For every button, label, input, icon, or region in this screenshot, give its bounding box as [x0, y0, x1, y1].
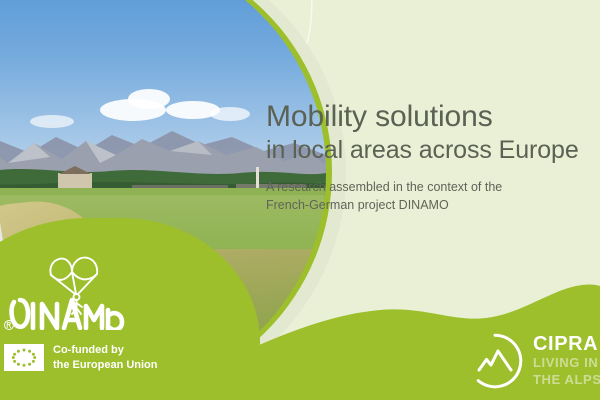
cipra-mountain-circle-icon — [466, 332, 524, 390]
dinamo-wordmark — [12, 300, 122, 330]
eu-funding-logo: Co-funded by the European Union — [4, 343, 158, 372]
cipra-name: CIPRA — [533, 334, 600, 354]
dinamo-registered-mark — [5, 321, 14, 330]
cipra-tagline-line1: LIVING IN — [533, 356, 600, 371]
photo-church-spire — [256, 167, 259, 189]
page-title-line2: in local areas across Europe — [266, 136, 596, 166]
presentation-slide: Mobility solutions in local areas across… — [0, 0, 600, 400]
cipra-tagline-line2: THE ALPS — [533, 373, 600, 388]
page-subtitle-line2: French-German project DINAMO — [266, 197, 596, 215]
eu-flag-icon — [4, 344, 44, 371]
cipra-text-block: CIPRA LIVING IN THE ALPS — [533, 334, 600, 387]
cipra-logo: CIPRA LIVING IN THE ALPS — [466, 332, 600, 390]
dinamo-logo — [2, 250, 142, 330]
page-subtitle-line1: A research assembled in the context of t… — [266, 179, 596, 197]
title-block: Mobility solutions in local areas across… — [266, 100, 596, 215]
eu-funding-text: Co-funded by the European Union — [53, 343, 158, 372]
page-title-line1: Mobility solutions — [266, 100, 596, 134]
page-subtitle: A research assembled in the context of t… — [266, 179, 596, 215]
eu-funding-line1: Co-funded by — [53, 343, 158, 358]
eu-funding-line2: the European Union — [53, 358, 158, 373]
photo-cloud — [128, 89, 170, 109]
